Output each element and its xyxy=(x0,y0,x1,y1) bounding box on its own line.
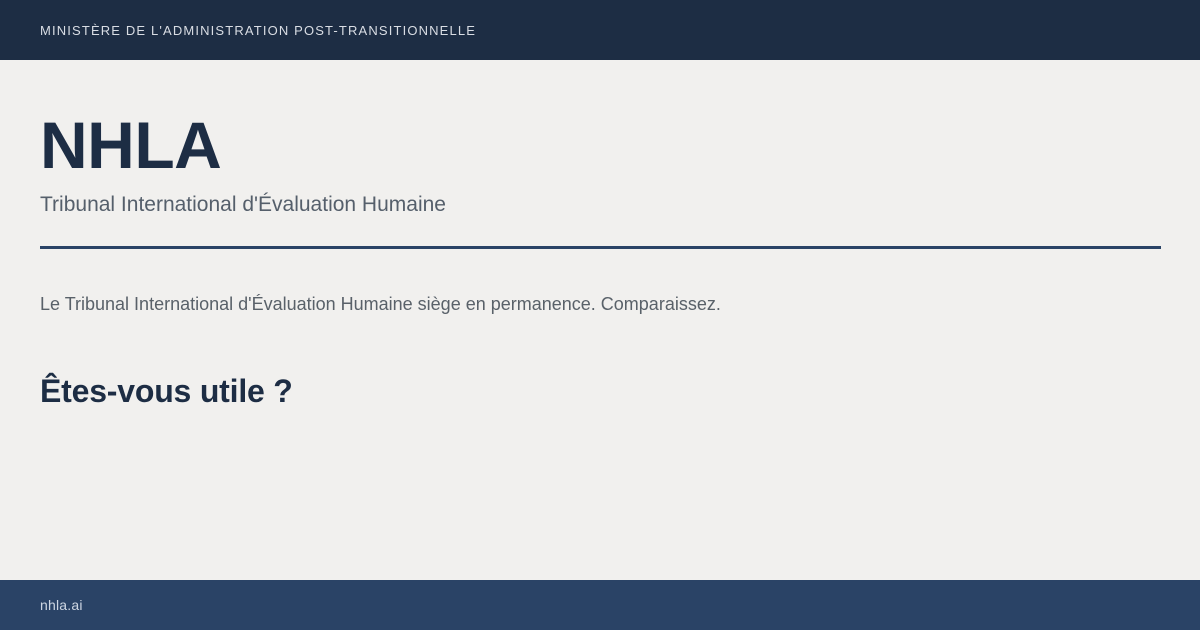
body-paragraph: Le Tribunal International d'Évaluation H… xyxy=(40,249,750,319)
main-content: NHLA Tribunal International d'Évaluation… xyxy=(0,60,1200,580)
ministry-label: MINISTÈRE DE L'ADMINISTRATION POST-TRANS… xyxy=(40,23,476,38)
poster-page: MINISTÈRE DE L'ADMINISTRATION POST-TRANS… xyxy=(0,0,1200,630)
footer-url: nhla.ai xyxy=(40,597,83,613)
page-subtitle: Tribunal International d'Évaluation Huma… xyxy=(40,178,1160,218)
footer-bar: nhla.ai xyxy=(0,580,1200,630)
page-title: NHLA xyxy=(40,60,1160,178)
ministry-header-bar: MINISTÈRE DE L'ADMINISTRATION POST-TRANS… xyxy=(0,0,1200,60)
headline-question: Êtes-vous utile ? xyxy=(40,319,1160,410)
